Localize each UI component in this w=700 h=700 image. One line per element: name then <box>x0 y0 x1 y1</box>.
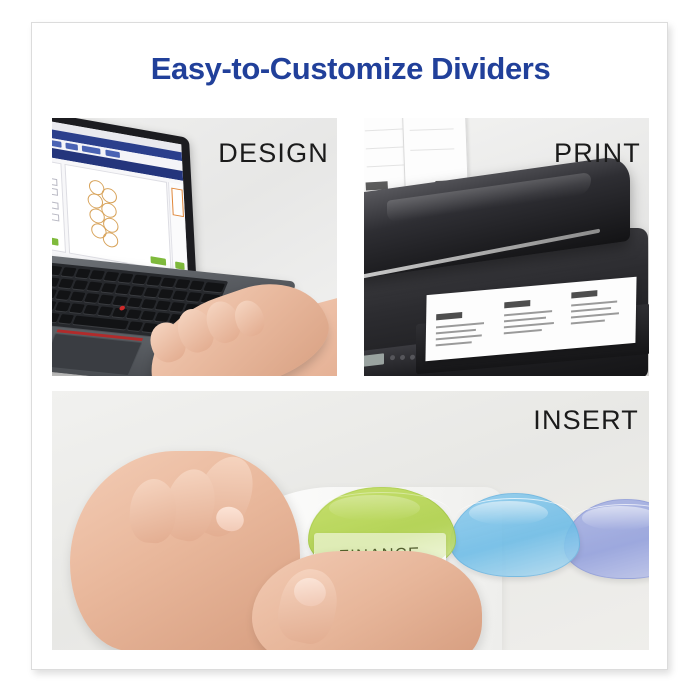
design-motif <box>101 187 117 204</box>
page-title: Easy-to-Customize Dividers <box>32 51 669 87</box>
keyboard-key[interactable] <box>203 282 225 292</box>
printer-button[interactable] <box>410 354 415 360</box>
keyboard-key[interactable] <box>129 286 145 296</box>
design-canvas[interactable] <box>64 164 171 272</box>
keyboard-key[interactable] <box>189 281 205 291</box>
keyboard-key[interactable] <box>146 276 162 286</box>
form-input-box <box>52 186 58 196</box>
keyboard-key[interactable] <box>115 285 131 295</box>
keyboard-key[interactable] <box>89 270 105 280</box>
printer-lcd-display <box>364 353 384 367</box>
panel-print: PRINT <box>364 118 649 376</box>
tab-blue[interactable] <box>450 493 580 577</box>
keyboard-key[interactable] <box>128 321 144 331</box>
sheet-column <box>499 287 563 351</box>
keyboard-key[interactable] <box>83 305 99 315</box>
printer-button[interactable] <box>390 355 395 361</box>
keyboard-key[interactable] <box>104 272 120 282</box>
save-button[interactable] <box>150 256 166 266</box>
keyboard-key[interactable] <box>70 292 86 302</box>
divider-tab-mark <box>504 300 530 308</box>
panel-insert: FINANCE INSERT <box>52 391 649 650</box>
keyboard-key[interactable] <box>186 292 202 302</box>
panel-label-print: PRINT <box>554 138 641 169</box>
tab-highlight <box>582 506 649 529</box>
sheet-rule <box>410 148 454 151</box>
sheet-column <box>430 293 494 357</box>
keyboard-key[interactable] <box>126 309 142 319</box>
sheet-text-line <box>436 334 482 340</box>
keyboard-key[interactable] <box>175 279 191 289</box>
sheet-text-line <box>504 310 552 316</box>
keyboard-key[interactable] <box>161 278 177 288</box>
keyboard-key[interactable] <box>72 280 88 290</box>
toolbar-chip <box>52 139 62 148</box>
tab-highlight <box>469 501 548 526</box>
keyboard-key[interactable] <box>169 302 185 312</box>
keyboard-key[interactable] <box>61 267 77 277</box>
divider-tab-mark <box>571 290 597 298</box>
tab-highlight <box>329 495 420 521</box>
toolbar-chip <box>105 150 120 158</box>
panel-label-design: DESIGN <box>218 138 329 169</box>
form-input-box <box>52 212 59 222</box>
keyboard-key[interactable] <box>158 289 174 299</box>
keyboard-key[interactable] <box>55 302 71 312</box>
sheet-text-line <box>436 322 484 328</box>
keyboard-key[interactable] <box>84 293 100 303</box>
sheet-text-line <box>436 329 476 334</box>
printer-button[interactable] <box>400 355 405 361</box>
sheet-text-line <box>571 312 619 318</box>
keyboard-key[interactable] <box>58 279 74 289</box>
form-input-box <box>52 200 59 210</box>
keyboard-key[interactable] <box>172 291 188 301</box>
keyboard-key[interactable] <box>98 295 114 305</box>
product-image: Easy-to-Customize Dividers <box>0 0 700 700</box>
keyboard-key[interactable] <box>98 306 114 316</box>
keyboard-key[interactable] <box>141 299 157 309</box>
product-card: Easy-to-Customize Dividers <box>31 22 668 670</box>
keyboard-key[interactable] <box>140 311 156 321</box>
sheet-text-line <box>503 322 553 328</box>
spacebar-key[interactable] <box>73 316 129 330</box>
keyboard-key[interactable] <box>101 283 117 293</box>
keyboard-key[interactable] <box>113 296 129 306</box>
toolbar-chip <box>65 143 78 151</box>
keyboard-key[interactable] <box>58 314 74 324</box>
keyboard-key[interactable] <box>75 269 91 279</box>
sheet-text-line <box>436 341 472 346</box>
keyboard-key[interactable] <box>87 282 103 292</box>
laptop-touchpad[interactable] <box>52 333 143 376</box>
design-motif <box>102 231 118 248</box>
keyboard-key[interactable] <box>127 298 143 308</box>
form-input-box <box>52 176 58 186</box>
template-thumbnail[interactable] <box>171 188 184 218</box>
panel-design: DESIGN <box>52 118 337 376</box>
keyboard-key[interactable] <box>155 301 171 311</box>
sheet-text-line <box>571 320 605 325</box>
keyboard-key[interactable] <box>69 303 85 313</box>
panel-label-insert: INSERT <box>533 405 639 436</box>
sheet-text-line <box>503 317 545 322</box>
keyboard-key[interactable] <box>132 275 148 285</box>
keyboard-key[interactable] <box>144 288 160 298</box>
divider-tab-mark <box>436 312 462 320</box>
keyboard-key[interactable] <box>56 290 72 300</box>
sheet-text-line <box>571 300 617 306</box>
keyboard-key[interactable] <box>155 312 171 322</box>
thumbnail <box>291 575 328 609</box>
sheet-text-line <box>503 329 541 334</box>
sheet-rule <box>410 128 454 131</box>
sheet-text-line <box>571 307 611 312</box>
sheet-column <box>568 281 632 345</box>
keyboard-key[interactable] <box>118 273 134 283</box>
apply-button[interactable] <box>52 236 59 245</box>
